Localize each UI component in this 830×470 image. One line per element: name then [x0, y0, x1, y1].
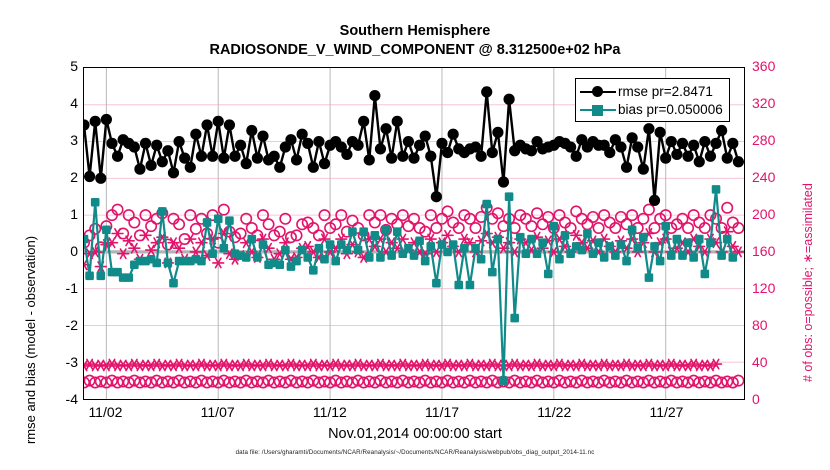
title-line-2: RADIOSONDE_V_WIND_COMPONENT @ 8.312500e+…: [0, 41, 830, 60]
legend-item-bias: bias pr=0.050006: [580, 100, 723, 118]
data-file-footer: data file: /Users/gharamti/Documents/NCA…: [0, 449, 830, 456]
x-axis-label: Nov.01,2014 00:00:00 start: [0, 426, 830, 442]
y-tick-right-3: 240: [752, 169, 792, 185]
x-tick-0: 11/02: [70, 404, 140, 420]
x-tick-5: 11/27: [631, 404, 701, 420]
y-axis-right-label: # of obs: o=possible; ∗=assimilated: [800, 82, 815, 382]
y-tick-right-7: 80: [752, 317, 792, 333]
y-tick-left-7: -2: [48, 317, 78, 333]
legend: rmse pr=2.8471 bias pr=0.050006: [575, 78, 730, 122]
x-tick-2: 11/12: [295, 404, 365, 420]
y-tick-left-4: 1: [48, 206, 78, 222]
legend-item-rmse: rmse pr=2.8471: [580, 82, 723, 100]
x-tick-1: 11/07: [183, 404, 253, 420]
x-tick-3: 11/17: [407, 404, 477, 420]
rmse-marker-icon: [580, 83, 616, 99]
y-tick-left-6: -1: [48, 280, 78, 296]
title-line-1: Southern Hemisphere: [0, 22, 830, 41]
y-tick-right-1: 320: [752, 95, 792, 111]
y-tick-left-8: -3: [48, 354, 78, 370]
y-tick-right-2: 280: [752, 132, 792, 148]
y-tick-right-9: 0: [752, 391, 792, 407]
x-tick-4: 11/22: [519, 404, 589, 420]
y-tick-left-1: 4: [48, 95, 78, 111]
y-tick-left-0: 5: [48, 58, 78, 74]
legend-label-rmse: rmse pr=2.8471: [618, 84, 713, 99]
legend-label-bias: bias pr=0.050006: [618, 102, 723, 117]
bias-marker-icon: [580, 101, 616, 117]
y-tick-right-8: 40: [752, 354, 792, 370]
chart-title: Southern Hemisphere RADIOSONDE_V_WIND_CO…: [0, 22, 830, 60]
y-tick-left-3: 2: [48, 169, 78, 185]
y-tick-left-5: 0: [48, 243, 78, 259]
y-tick-right-6: 120: [752, 280, 792, 296]
y-tick-right-5: 160: [752, 243, 792, 259]
y-tick-right-4: 200: [752, 206, 792, 222]
y-tick-left-2: 3: [48, 132, 78, 148]
y-tick-right-0: 360: [752, 58, 792, 74]
chart-page: Southern Hemisphere RADIOSONDE_V_WIND_CO…: [0, 0, 830, 470]
